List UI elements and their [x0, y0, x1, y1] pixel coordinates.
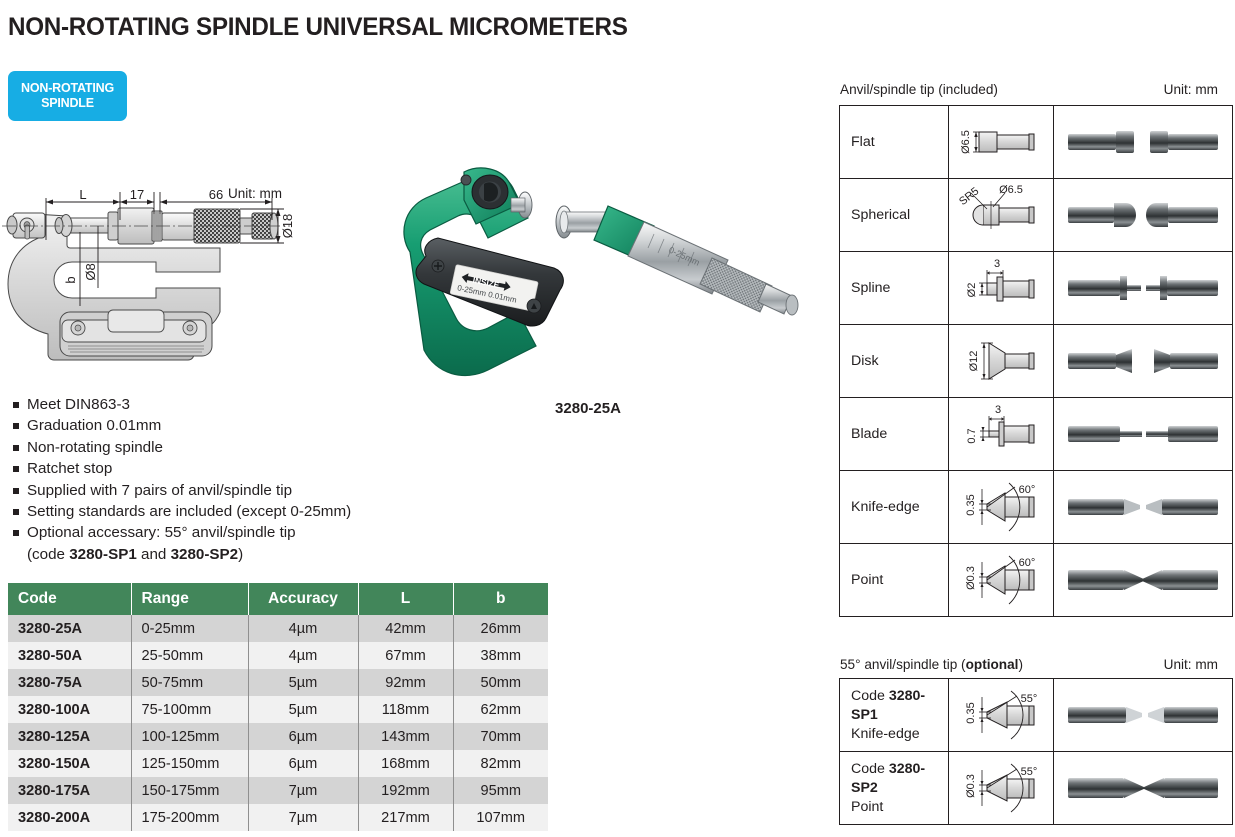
- tip-label: Knife-edge: [840, 471, 949, 544]
- tips-optional-header: 55° anvil/spindle tip (optional) Unit: m…: [840, 657, 1218, 672]
- tip-dim-text-2: 60°: [1019, 557, 1036, 569]
- cell-range: 175-200mm: [131, 804, 248, 831]
- tip-dim-text: 0.35: [965, 494, 977, 515]
- tip-photo-spherical: [1054, 179, 1233, 252]
- tip-dim-text: 0.7: [966, 428, 978, 443]
- cell-code: 3280-50A: [8, 642, 131, 669]
- cell-accuracy: 7µm: [248, 804, 358, 831]
- product-photo: 0-25mm INSIZE 0-25mm 0.01mm: [368, 160, 808, 400]
- tip-dim-text: Ø12: [968, 351, 980, 372]
- tip-row-spherical[interactable]: Spherical SR5 Ø6.5: [840, 179, 1233, 252]
- tip-label: Spline: [840, 252, 949, 325]
- table-row[interactable]: 3280-175A 150-175mm 7µm 192mm 95mm: [8, 777, 548, 804]
- tips-optional-title: 55° anvil/spindle tip (optional): [840, 657, 1023, 672]
- cell-accuracy: 4µm: [248, 642, 358, 669]
- tip-photo-flat: [1054, 106, 1233, 179]
- table-row[interactable]: 3280-75A 50-75mm 5µm 92mm 50mm: [8, 669, 548, 696]
- tip-dim-text-2: 60°: [1019, 484, 1036, 496]
- dim-L-text: L: [79, 187, 86, 202]
- tip-photo-point: [1054, 544, 1233, 617]
- micrometer-dimension-drawing: L 17 66 Ø18 b Ø8: [0, 180, 330, 385]
- tip-label: Flat: [840, 106, 949, 179]
- cell-b: 26mm: [453, 615, 548, 642]
- tip-row-knife-edge[interactable]: Knife-edge 60° 0.35: [840, 471, 1233, 544]
- feature-item: Supplied with 7 pairs of anvil/spindle t…: [8, 480, 528, 501]
- tips-optional-unit: Unit: mm: [1164, 657, 1218, 672]
- tip-label-sp2: Code 3280-SP2 Point: [840, 752, 949, 825]
- tip-row-spline[interactable]: Spline 3: [840, 252, 1233, 325]
- column-header-l: L: [358, 583, 453, 615]
- tip-label: Blade: [840, 398, 949, 471]
- dim-66-text: 66: [209, 187, 223, 202]
- table-row[interactable]: 3280-150A 125-150mm 6µm 168mm 82mm: [8, 750, 548, 777]
- feature-item: Setting standards are included (except 0…: [8, 501, 528, 522]
- table-row[interactable]: 3280-200A 175-200mm 7µm 217mm 107mm: [8, 804, 548, 831]
- column-header-code: Code: [8, 583, 131, 615]
- cell-code: 3280-175A: [8, 777, 131, 804]
- tip-dim-text-2: 55°: [1021, 766, 1038, 778]
- tip-dim-text: Ø2: [966, 283, 978, 298]
- tip-photo-sp1: [1054, 679, 1233, 752]
- cell-l: 67mm: [358, 642, 453, 669]
- column-header-range: Range: [131, 583, 248, 615]
- cell-range: 150-175mm: [131, 777, 248, 804]
- page-title: NON-ROTATING SPINDLE UNIVERSAL MICROMETE…: [8, 13, 628, 42]
- cell-b: 107mm: [453, 804, 548, 831]
- cell-range: 25-50mm: [131, 642, 248, 669]
- cell-code: 3280-125A: [8, 723, 131, 750]
- tip-drawing-spline: 3 Ø2: [949, 252, 1054, 325]
- cell-accuracy: 6µm: [248, 723, 358, 750]
- tip-row-flat[interactable]: Flat Ø6.5: [840, 106, 1233, 179]
- code-sp2: 3280-SP2: [171, 546, 239, 563]
- tip-dim-text: SR5: [957, 185, 981, 208]
- badge-line-1: NON-ROTATING: [21, 81, 114, 96]
- tip-drawing-knife-edge: 60° 0.35: [949, 471, 1054, 544]
- feature-item: Graduation 0.01mm: [8, 415, 528, 436]
- tip-label: Disk: [840, 325, 949, 398]
- tip-photo-spline: [1054, 252, 1233, 325]
- tip-photo-sp2: [1054, 752, 1233, 825]
- tip-row-sp1[interactable]: Code 3280-SP1 Knife-edge 55°: [840, 679, 1233, 752]
- cell-accuracy: 6µm: [248, 750, 358, 777]
- tip-row-blade[interactable]: Blade 3: [840, 398, 1233, 471]
- cell-b: 38mm: [453, 642, 548, 669]
- tip-label: Spherical: [840, 179, 949, 252]
- cell-l: 168mm: [358, 750, 453, 777]
- cell-b: 62mm: [453, 696, 548, 723]
- tip-dim-text: 0.35: [965, 702, 977, 723]
- tip-drawing-flat: Ø6.5: [949, 106, 1054, 179]
- cell-l: 143mm: [358, 723, 453, 750]
- tip-label-sp1: Code 3280-SP1 Knife-edge: [840, 679, 949, 752]
- cell-l: 118mm: [358, 696, 453, 723]
- table-row[interactable]: 3280-25A 0-25mm 4µm 42mm 26mm: [8, 615, 548, 642]
- cell-code: 3280-200A: [8, 804, 131, 831]
- tip-drawing-point: 60° Ø0.3: [949, 544, 1054, 617]
- tip-dim-text-2: 3: [994, 258, 1000, 270]
- table-row[interactable]: 3280-50A 25-50mm 4µm 67mm 38mm: [8, 642, 548, 669]
- tips-included-title: Anvil/spindle tip (included): [840, 82, 998, 97]
- column-header-accuracy: Accuracy: [248, 583, 358, 615]
- badge-line-2: SPINDLE: [41, 96, 94, 111]
- cell-code: 3280-75A: [8, 669, 131, 696]
- tip-dim-text: Ø0.3: [965, 566, 977, 590]
- code-middle: and: [137, 546, 171, 563]
- cell-l: 92mm: [358, 669, 453, 696]
- dim-17-text: 17: [130, 187, 144, 202]
- cell-range: 125-150mm: [131, 750, 248, 777]
- table-row[interactable]: 3280-100A 75-100mm 5µm 118mm 62mm: [8, 696, 548, 723]
- dim-d18-text: Ø18: [280, 214, 295, 239]
- tip-dim-text-2: 3: [995, 404, 1001, 416]
- feature-item: Optional accessary: 55° anvil/spindle ti…: [8, 522, 528, 543]
- tip-label: Point: [840, 544, 949, 617]
- tip-drawing-disk: Ø12: [949, 325, 1054, 398]
- dim-b-text: b: [63, 276, 78, 283]
- optional-title-suffix: ): [1018, 657, 1023, 672]
- cell-range: 50-75mm: [131, 669, 248, 696]
- tips-included-header: Anvil/spindle tip (included) Unit: mm: [840, 82, 1218, 97]
- tip-photo-blade: [1054, 398, 1233, 471]
- tip-drawing-spherical: SR5 Ø6.5: [949, 179, 1054, 252]
- feature-list: Meet DIN863-3 Graduation 0.01mm Non-rota…: [8, 394, 528, 565]
- cell-code: 3280-25A: [8, 615, 131, 642]
- cell-b: 70mm: [453, 723, 548, 750]
- tip-drawing-sp2: 55° Ø0.3: [949, 752, 1054, 825]
- tip-dim-text-2: 55°: [1021, 693, 1038, 705]
- optional-anvil-spindle-tip-table: Code 3280-SP1 Knife-edge 55°: [839, 678, 1233, 825]
- anvil-spindle-tip-table: Flat Ø6.5: [839, 105, 1233, 617]
- cell-b: 82mm: [453, 750, 548, 777]
- tip-type-name: Knife-edge: [851, 726, 920, 742]
- cell-accuracy: 5µm: [248, 696, 358, 723]
- tip-photo-disk: [1054, 325, 1233, 398]
- cell-range: 75-100mm: [131, 696, 248, 723]
- cell-l: 192mm: [358, 777, 453, 804]
- tip-row-disk[interactable]: Disk Ø12: [840, 325, 1233, 398]
- specification-table: Code Range Accuracy L b 3280-25A 0-25mm …: [8, 583, 548, 831]
- code-prefix: Code: [851, 688, 889, 704]
- code-prefix: Code: [851, 761, 889, 777]
- tip-row-sp2[interactable]: Code 3280-SP2 Point 55°: [840, 752, 1233, 825]
- feature-item-continuation: (code 3280-SP1 and 3280-SP2): [8, 544, 528, 565]
- tip-dim-text-2: Ø6.5: [999, 184, 1023, 196]
- tip-type-name: Point: [851, 799, 883, 815]
- column-header-b: b: [453, 583, 548, 615]
- tip-dim-text: Ø6.5: [960, 130, 972, 154]
- dim-d8-text: Ø8: [83, 263, 98, 280]
- code-suffix: ): [238, 546, 243, 563]
- optional-title-bold: optional: [966, 657, 1019, 672]
- cell-b: 95mm: [453, 777, 548, 804]
- tips-included-unit: Unit: mm: [1164, 82, 1218, 97]
- tip-photo-knife-edge: [1054, 471, 1233, 544]
- feature-item: Non-rotating spindle: [8, 437, 528, 458]
- table-header-row: Code Range Accuracy L b: [8, 583, 548, 615]
- tip-drawing-blade: 3 0.7: [949, 398, 1054, 471]
- cell-accuracy: 7µm: [248, 777, 358, 804]
- cell-accuracy: 4µm: [248, 615, 358, 642]
- cell-range: 0-25mm: [131, 615, 248, 642]
- cell-l: 42mm: [358, 615, 453, 642]
- tip-row-point[interactable]: Point 60° Ø0.3: [840, 544, 1233, 617]
- cell-code: 3280-100A: [8, 696, 131, 723]
- tip-drawing-sp1: 55° 0.35: [949, 679, 1054, 752]
- cell-range: 100-125mm: [131, 723, 248, 750]
- non-rotating-spindle-badge: NON-ROTATING SPINDLE: [8, 71, 127, 121]
- feature-item: Ratchet stop: [8, 458, 528, 479]
- cell-l: 217mm: [358, 804, 453, 831]
- cell-b: 50mm: [453, 669, 548, 696]
- optional-title-prefix: 55° anvil/spindle tip (: [840, 657, 966, 672]
- tip-dim-text: Ø0.3: [965, 774, 977, 798]
- code-prefix: (code: [27, 546, 69, 563]
- table-row[interactable]: 3280-125A 100-125mm 6µm 143mm 70mm: [8, 723, 548, 750]
- code-sp1: 3280-SP1: [69, 546, 137, 563]
- feature-item: Meet DIN863-3: [8, 394, 528, 415]
- cell-accuracy: 5µm: [248, 669, 358, 696]
- cell-code: 3280-150A: [8, 750, 131, 777]
